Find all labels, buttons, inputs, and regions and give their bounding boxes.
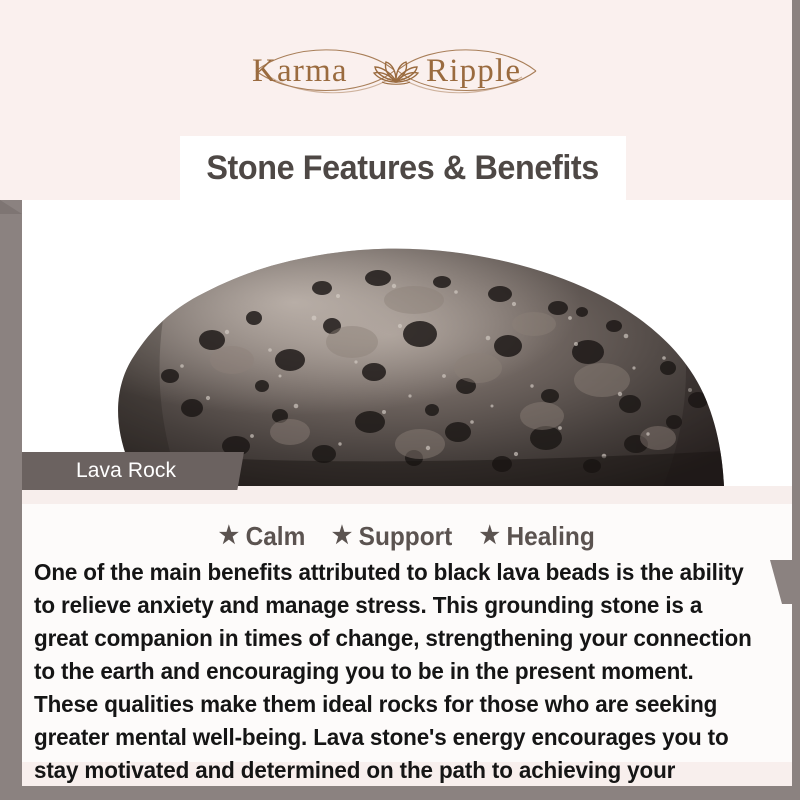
lava-rock-photo (22, 200, 792, 486)
lotus-icon (374, 62, 418, 84)
right-frame-edge (792, 0, 800, 800)
lava-rock-svg (22, 200, 792, 486)
image-caption-bar: Lava Rock (22, 452, 244, 490)
brand-name-right: Ripple (426, 53, 521, 89)
content-card: Karma Ripple Stone Features & Benefits (0, 0, 792, 786)
hero-image-area (22, 200, 792, 486)
star-icon: ★ (332, 524, 352, 548)
star-icon: ★ (480, 524, 500, 548)
feature-label: Support (358, 521, 452, 552)
feature-item-support: ★ Support (332, 521, 452, 552)
infographic-page: Karma Ripple Stone Features & Benefits (0, 0, 800, 800)
brand-name-left: Karma (252, 53, 348, 89)
image-caption-label: Lava Rock (22, 459, 176, 483)
left-frame-band (0, 200, 22, 786)
star-icon: ★ (218, 524, 238, 548)
brand-logo: Karma Ripple (0, 36, 792, 108)
title-banner: Stone Features & Benefits (180, 136, 626, 200)
page-title: Stone Features & Benefits (207, 149, 600, 188)
feature-label: Healing (506, 521, 594, 552)
bottom-frame-edge (0, 786, 800, 800)
feature-item-calm: ★ Calm (218, 521, 305, 552)
feature-item-healing: ★ Healing (480, 521, 595, 552)
logo-svg: Karma Ripple (236, 37, 556, 107)
feature-label: Calm (245, 521, 305, 552)
feature-list: ★ Calm ★ Support ★ Healing (22, 518, 792, 554)
body-paragraph: One of the main benefits attributed to b… (34, 556, 762, 786)
